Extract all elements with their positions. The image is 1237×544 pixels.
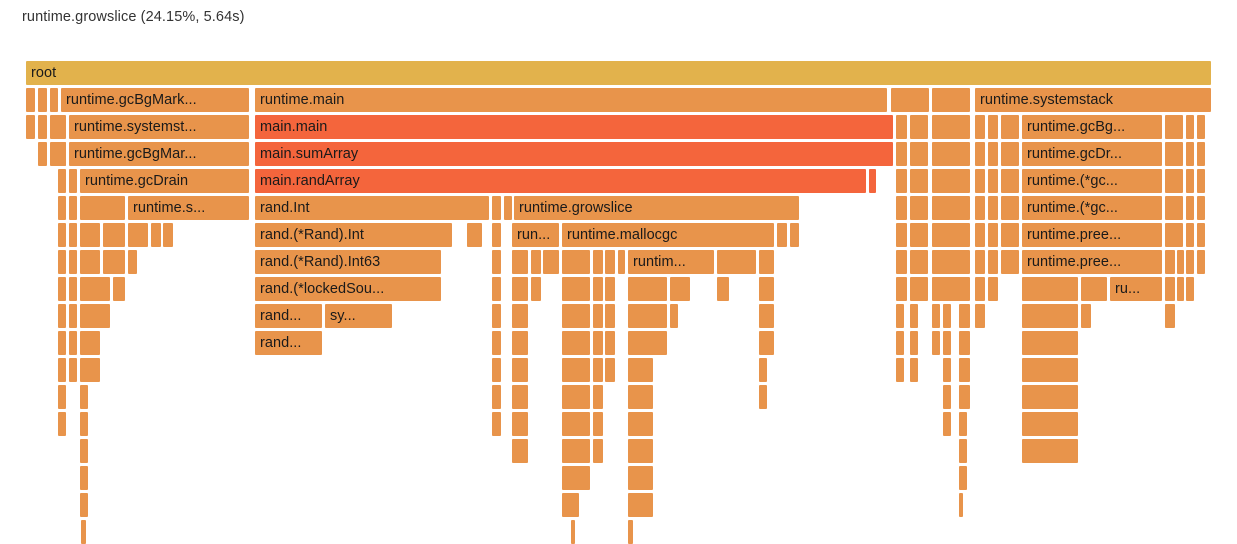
- flame-frame-unlabeled[interactable]: [1022, 385, 1078, 409]
- flame-frame-unlabeled[interactable]: [896, 169, 907, 193]
- flame-graph[interactable]: rootruntime.gcBgMark...runtime.mainrunti…: [0, 0, 1237, 508]
- flame-frame-unlabeled[interactable]: [959, 304, 970, 328]
- flame-frame-unlabeled[interactable]: [790, 223, 799, 247]
- flame-frame-unlabeled[interactable]: [80, 385, 88, 409]
- flame-frame-unlabeled[interactable]: [492, 331, 501, 355]
- flame-frame-unlabeled[interactable]: [1081, 277, 1107, 301]
- flame-frame-unlabeled[interactable]: [492, 358, 501, 382]
- flame-frame-unlabeled[interactable]: [58, 196, 66, 220]
- flame-frame[interactable]: runtime.gcBg...: [1022, 115, 1162, 139]
- flame-frame-unlabeled[interactable]: [1001, 115, 1019, 139]
- flame-frame-unlabeled[interactable]: [932, 142, 970, 166]
- flame-frame-unlabeled[interactable]: [1022, 304, 1078, 328]
- flame-frame-unlabeled[interactable]: [717, 277, 729, 301]
- flame-frame[interactable]: root: [26, 61, 1211, 85]
- flame-frame-unlabeled[interactable]: [896, 115, 907, 139]
- flame-frame-unlabeled[interactable]: [988, 115, 998, 139]
- flame-frame-unlabeled[interactable]: [128, 250, 137, 274]
- flame-frame-unlabeled[interactable]: [593, 385, 603, 409]
- flame-frame-unlabeled[interactable]: [512, 358, 528, 382]
- flame-frame-unlabeled[interactable]: [113, 277, 125, 301]
- flame-frame[interactable]: rand.Int: [255, 196, 489, 220]
- flame-frame-unlabeled[interactable]: [628, 331, 667, 355]
- flame-frame[interactable]: rand...: [255, 304, 322, 328]
- flame-frame[interactable]: rand.(*Rand).Int63: [255, 250, 441, 274]
- flame-frame-unlabeled[interactable]: [1081, 304, 1091, 328]
- flame-frame-unlabeled[interactable]: [69, 304, 77, 328]
- flame-frame-unlabeled[interactable]: [562, 358, 590, 382]
- flame-frame-unlabeled[interactable]: [562, 493, 579, 517]
- flame-frame-unlabeled[interactable]: [50, 115, 66, 139]
- flame-frame-unlabeled[interactable]: [58, 304, 66, 328]
- flame-frame-unlabeled[interactable]: [759, 358, 767, 382]
- flame-frame-unlabeled[interactable]: [593, 250, 603, 274]
- flame-frame-unlabeled[interactable]: [628, 358, 653, 382]
- flame-frame-unlabeled[interactable]: [975, 142, 985, 166]
- flame-frame-unlabeled[interactable]: [58, 412, 66, 436]
- flame-frame-unlabeled[interactable]: [562, 250, 590, 274]
- flame-frame[interactable]: runtime.pree...: [1022, 250, 1162, 274]
- flame-frame-unlabeled[interactable]: [605, 277, 615, 301]
- flame-frame-unlabeled[interactable]: [593, 358, 603, 382]
- flame-frame-unlabeled[interactable]: [1197, 196, 1205, 220]
- flame-frame-unlabeled[interactable]: [628, 439, 653, 463]
- flame-frame-unlabeled[interactable]: [959, 439, 967, 463]
- flame-frame-unlabeled[interactable]: [988, 250, 998, 274]
- flame-frame-unlabeled[interactable]: [988, 223, 998, 247]
- flame-frame-unlabeled[interactable]: [959, 412, 967, 436]
- flame-frame-unlabeled[interactable]: [910, 142, 928, 166]
- flame-frame-unlabeled[interactable]: [512, 412, 528, 436]
- flame-frame[interactable]: sy...: [325, 304, 392, 328]
- flame-frame-unlabeled[interactable]: [932, 304, 940, 328]
- flame-frame-unlabeled[interactable]: [896, 331, 904, 355]
- flame-frame-unlabeled[interactable]: [1022, 277, 1078, 301]
- flame-frame-unlabeled[interactable]: [58, 331, 66, 355]
- flame-frame-unlabeled[interactable]: [959, 358, 970, 382]
- flame-frame-unlabeled[interactable]: [1001, 196, 1019, 220]
- flame-frame-unlabeled[interactable]: [910, 331, 918, 355]
- flame-frame-unlabeled[interactable]: [593, 304, 603, 328]
- flame-frame-unlabeled[interactable]: [1001, 169, 1019, 193]
- flame-frame-unlabeled[interactable]: [467, 223, 482, 247]
- flame-frame-unlabeled[interactable]: [628, 304, 667, 328]
- flame-frame-unlabeled[interactable]: [1186, 196, 1194, 220]
- flame-frame-unlabeled[interactable]: [531, 250, 541, 274]
- flame-frame-unlabeled[interactable]: [628, 466, 653, 490]
- flame-frame-unlabeled[interactable]: [932, 169, 970, 193]
- flame-frame-unlabeled[interactable]: [69, 169, 77, 193]
- flame-frame-unlabeled[interactable]: [504, 196, 512, 220]
- flame-frame-unlabeled[interactable]: [943, 358, 951, 382]
- flame-frame-unlabeled[interactable]: [943, 331, 951, 355]
- flame-frame-unlabeled[interactable]: [959, 385, 970, 409]
- flame-frame[interactable]: rand...: [255, 331, 322, 355]
- flame-frame-unlabeled[interactable]: [605, 304, 615, 328]
- flame-frame-unlabeled[interactable]: [1022, 439, 1078, 463]
- flame-frame-unlabeled[interactable]: [103, 223, 125, 247]
- flame-frame-unlabeled[interactable]: [151, 223, 161, 247]
- flame-frame-unlabeled[interactable]: [975, 115, 985, 139]
- flame-frame[interactable]: rand.(*Rand).Int: [255, 223, 452, 247]
- flame-frame-unlabeled[interactable]: [38, 115, 47, 139]
- flame-frame-unlabeled[interactable]: [512, 439, 528, 463]
- flame-frame-unlabeled[interactable]: [759, 385, 767, 409]
- flame-frame-unlabeled[interactable]: [492, 277, 501, 301]
- flame-frame-unlabeled[interactable]: [81, 520, 86, 544]
- flame-frame[interactable]: runtime.gcDr...: [1022, 142, 1162, 166]
- flame-frame-unlabeled[interactable]: [80, 358, 100, 382]
- flame-frame-unlabeled[interactable]: [628, 412, 653, 436]
- flame-frame-unlabeled[interactable]: [896, 223, 907, 247]
- flame-frame-unlabeled[interactable]: [80, 223, 100, 247]
- flame-frame-unlabeled[interactable]: [910, 277, 928, 301]
- flame-frame-unlabeled[interactable]: [80, 250, 100, 274]
- flame-frame-unlabeled[interactable]: [869, 169, 876, 193]
- flame-frame-unlabeled[interactable]: [1177, 250, 1184, 274]
- flame-frame[interactable]: runtime.pree...: [1022, 223, 1162, 247]
- flame-frame-unlabeled[interactable]: [543, 250, 559, 274]
- flame-frame-unlabeled[interactable]: [1022, 358, 1078, 382]
- flame-frame-unlabeled[interactable]: [759, 250, 774, 274]
- flame-frame-unlabeled[interactable]: [1165, 142, 1183, 166]
- flame-frame-unlabeled[interactable]: [1165, 304, 1175, 328]
- flame-frame-unlabeled[interactable]: [58, 169, 66, 193]
- flame-frame-unlabeled[interactable]: [69, 358, 77, 382]
- flame-frame-unlabeled[interactable]: [26, 88, 35, 112]
- flame-frame-unlabeled[interactable]: [1186, 250, 1194, 274]
- flame-frame-unlabeled[interactable]: [975, 277, 985, 301]
- flame-frame-unlabeled[interactable]: [988, 142, 998, 166]
- flame-frame-unlabeled[interactable]: [959, 331, 970, 355]
- flame-frame-unlabeled[interactable]: [1186, 277, 1194, 301]
- flame-frame-unlabeled[interactable]: [1001, 142, 1019, 166]
- flame-frame[interactable]: main.randArray: [255, 169, 866, 193]
- flame-frame-unlabeled[interactable]: [910, 250, 928, 274]
- flame-frame-unlabeled[interactable]: [562, 304, 590, 328]
- flame-frame-unlabeled[interactable]: [1165, 250, 1175, 274]
- flame-frame-unlabeled[interactable]: [80, 466, 88, 490]
- flame-frame-unlabeled[interactable]: [975, 196, 985, 220]
- flame-frame-unlabeled[interactable]: [58, 277, 66, 301]
- flame-frame-unlabeled[interactable]: [562, 277, 590, 301]
- flame-frame-unlabeled[interactable]: [163, 223, 173, 247]
- flame-frame-unlabeled[interactable]: [562, 466, 590, 490]
- flame-frame-unlabeled[interactable]: [896, 196, 907, 220]
- flame-frame-unlabeled[interactable]: [959, 466, 967, 490]
- flame-frame-unlabeled[interactable]: [896, 358, 904, 382]
- flame-frame-unlabeled[interactable]: [932, 277, 970, 301]
- flame-frame-unlabeled[interactable]: [759, 331, 774, 355]
- flame-frame-unlabeled[interactable]: [932, 115, 970, 139]
- flame-frame[interactable]: runtime.gcBgMark...: [61, 88, 249, 112]
- flame-frame-unlabeled[interactable]: [1186, 169, 1194, 193]
- flame-frame[interactable]: runtime.main: [255, 88, 887, 112]
- flame-frame-unlabeled[interactable]: [910, 223, 928, 247]
- flame-frame-unlabeled[interactable]: [58, 358, 66, 382]
- flame-frame-unlabeled[interactable]: [910, 169, 928, 193]
- flame-frame-unlabeled[interactable]: [1165, 196, 1183, 220]
- flame-frame-unlabeled[interactable]: [1186, 223, 1194, 247]
- flame-frame[interactable]: runtim...: [628, 250, 714, 274]
- flame-frame-unlabeled[interactable]: [717, 250, 756, 274]
- flame-frame[interactable]: runtime.s...: [128, 196, 249, 220]
- flame-frame-unlabeled[interactable]: [943, 385, 951, 409]
- flame-frame[interactable]: runtime.systemstack: [975, 88, 1211, 112]
- flame-frame-unlabeled[interactable]: [628, 493, 653, 517]
- flame-frame-unlabeled[interactable]: [562, 439, 590, 463]
- flame-frame-unlabeled[interactable]: [593, 412, 603, 436]
- flame-frame[interactable]: rand.(*lockedSou...: [255, 277, 441, 301]
- flame-frame-unlabeled[interactable]: [512, 250, 528, 274]
- flame-frame-unlabeled[interactable]: [512, 304, 528, 328]
- flame-frame-unlabeled[interactable]: [80, 439, 88, 463]
- flame-frame-unlabeled[interactable]: [1197, 115, 1205, 139]
- flame-frame-unlabeled[interactable]: [80, 412, 88, 436]
- flame-frame[interactable]: main.main: [255, 115, 893, 139]
- flame-frame-unlabeled[interactable]: [531, 277, 541, 301]
- flame-frame[interactable]: runtime.gcBgMar...: [69, 142, 249, 166]
- flame-frame-unlabeled[interactable]: [1165, 115, 1183, 139]
- flame-frame-unlabeled[interactable]: [932, 331, 940, 355]
- flame-frame-unlabeled[interactable]: [1197, 223, 1205, 247]
- flame-frame[interactable]: runtime.systemst...: [69, 115, 249, 139]
- flame-frame-unlabeled[interactable]: [988, 277, 998, 301]
- flame-frame-unlabeled[interactable]: [69, 277, 77, 301]
- flame-frame[interactable]: runtime.gcDrain: [80, 169, 249, 193]
- flame-frame-unlabeled[interactable]: [80, 331, 100, 355]
- flame-frame-unlabeled[interactable]: [910, 196, 928, 220]
- flame-frame-unlabeled[interactable]: [975, 250, 985, 274]
- flame-frame-unlabeled[interactable]: [910, 115, 928, 139]
- flame-frame-unlabeled[interactable]: [1001, 250, 1019, 274]
- flame-frame-unlabeled[interactable]: [58, 223, 66, 247]
- flame-frame-unlabeled[interactable]: [605, 331, 615, 355]
- flame-frame-unlabeled[interactable]: [562, 331, 590, 355]
- flame-frame-unlabeled[interactable]: [1165, 223, 1183, 247]
- flame-frame-unlabeled[interactable]: [896, 142, 907, 166]
- flame-frame-unlabeled[interactable]: [562, 412, 590, 436]
- flame-frame-unlabeled[interactable]: [1197, 250, 1205, 274]
- flame-frame-unlabeled[interactable]: [896, 277, 907, 301]
- flame-frame-unlabeled[interactable]: [759, 304, 774, 328]
- flame-frame-unlabeled[interactable]: [69, 250, 77, 274]
- flame-frame-unlabeled[interactable]: [932, 250, 970, 274]
- flame-frame-unlabeled[interactable]: [562, 385, 590, 409]
- flame-frame-unlabeled[interactable]: [69, 223, 77, 247]
- flame-frame-unlabeled[interactable]: [975, 169, 985, 193]
- flame-frame-unlabeled[interactable]: [959, 493, 963, 517]
- flame-frame-unlabeled[interactable]: [69, 331, 77, 355]
- flame-frame-unlabeled[interactable]: [910, 358, 918, 382]
- flame-frame-unlabeled[interactable]: [512, 385, 528, 409]
- flame-frame-unlabeled[interactable]: [975, 223, 985, 247]
- flame-frame-unlabeled[interactable]: [932, 223, 970, 247]
- flame-frame-unlabeled[interactable]: [512, 277, 528, 301]
- flame-frame-unlabeled[interactable]: [492, 412, 501, 436]
- flame-frame-unlabeled[interactable]: [80, 277, 110, 301]
- flame-frame-unlabeled[interactable]: [628, 277, 667, 301]
- flame-frame-unlabeled[interactable]: [492, 250, 501, 274]
- flame-frame-unlabeled[interactable]: [896, 304, 904, 328]
- flame-frame-unlabeled[interactable]: [932, 88, 970, 112]
- flame-frame-unlabeled[interactable]: [38, 88, 47, 112]
- flame-frame-unlabeled[interactable]: [759, 277, 774, 301]
- flame-frame-unlabeled[interactable]: [605, 250, 615, 274]
- flame-frame-unlabeled[interactable]: [1197, 142, 1205, 166]
- flame-frame[interactable]: runtime.(*gc...: [1022, 169, 1162, 193]
- flame-frame-unlabeled[interactable]: [628, 385, 653, 409]
- flame-frame-unlabeled[interactable]: [1022, 412, 1078, 436]
- flame-frame-unlabeled[interactable]: [1186, 115, 1194, 139]
- flame-frame-unlabeled[interactable]: [80, 493, 88, 517]
- flame-frame-unlabeled[interactable]: [628, 520, 633, 544]
- flame-frame-unlabeled[interactable]: [1165, 169, 1183, 193]
- flame-frame[interactable]: run...: [512, 223, 559, 247]
- flame-frame-unlabeled[interactable]: [910, 304, 918, 328]
- flame-frame-unlabeled[interactable]: [618, 250, 625, 274]
- flame-frame-unlabeled[interactable]: [1022, 331, 1078, 355]
- flame-frame-unlabeled[interactable]: [1186, 142, 1194, 166]
- flame-frame-unlabeled[interactable]: [58, 385, 66, 409]
- flame-frame-unlabeled[interactable]: [103, 250, 125, 274]
- flame-frame[interactable]: runtime.mallocgc: [562, 223, 774, 247]
- flame-frame-unlabeled[interactable]: [777, 223, 787, 247]
- flame-frame-unlabeled[interactable]: [891, 88, 929, 112]
- flame-frame-unlabeled[interactable]: [1197, 169, 1205, 193]
- flame-frame-unlabeled[interactable]: [1165, 277, 1175, 301]
- flame-frame-unlabeled[interactable]: [943, 304, 951, 328]
- flame-frame-unlabeled[interactable]: [58, 250, 66, 274]
- flame-frame-unlabeled[interactable]: [670, 304, 678, 328]
- flame-frame-unlabeled[interactable]: [593, 277, 603, 301]
- flame-frame-unlabeled[interactable]: [1177, 277, 1184, 301]
- flame-frame-unlabeled[interactable]: [975, 304, 985, 328]
- flame-frame-unlabeled[interactable]: [69, 196, 77, 220]
- flame-frame-unlabeled[interactable]: [492, 385, 501, 409]
- flame-frame-unlabeled[interactable]: [670, 277, 690, 301]
- flame-frame-unlabeled[interactable]: [593, 439, 603, 463]
- flame-frame-unlabeled[interactable]: [571, 520, 575, 544]
- flame-frame-unlabeled[interactable]: [492, 196, 501, 220]
- flame-frame-unlabeled[interactable]: [512, 331, 528, 355]
- flame-frame-unlabeled[interactable]: [988, 196, 998, 220]
- flame-frame-unlabeled[interactable]: [593, 331, 603, 355]
- flame-frame-unlabeled[interactable]: [492, 304, 501, 328]
- flame-frame-unlabeled[interactable]: [128, 223, 148, 247]
- flame-frame-unlabeled[interactable]: [896, 250, 907, 274]
- flame-frame-unlabeled[interactable]: [1001, 223, 1019, 247]
- flame-frame-unlabeled[interactable]: [50, 88, 58, 112]
- flame-frame[interactable]: runtime.growslice: [514, 196, 799, 220]
- flame-frame-unlabeled[interactable]: [80, 196, 125, 220]
- flame-frame-unlabeled[interactable]: [58, 142, 66, 166]
- flame-frame[interactable]: main.sumArray: [255, 142, 893, 166]
- flame-frame-unlabeled[interactable]: [605, 358, 615, 382]
- flame-frame-unlabeled[interactable]: [26, 115, 35, 139]
- flame-frame-unlabeled[interactable]: [492, 223, 501, 247]
- flame-frame[interactable]: ru...: [1110, 277, 1162, 301]
- flame-frame-unlabeled[interactable]: [38, 142, 47, 166]
- flame-frame-unlabeled[interactable]: [943, 412, 951, 436]
- flame-frame-unlabeled[interactable]: [80, 304, 110, 328]
- flame-frame[interactable]: runtime.(*gc...: [1022, 196, 1162, 220]
- flame-frame-unlabeled[interactable]: [988, 169, 998, 193]
- flame-frame-unlabeled[interactable]: [932, 196, 970, 220]
